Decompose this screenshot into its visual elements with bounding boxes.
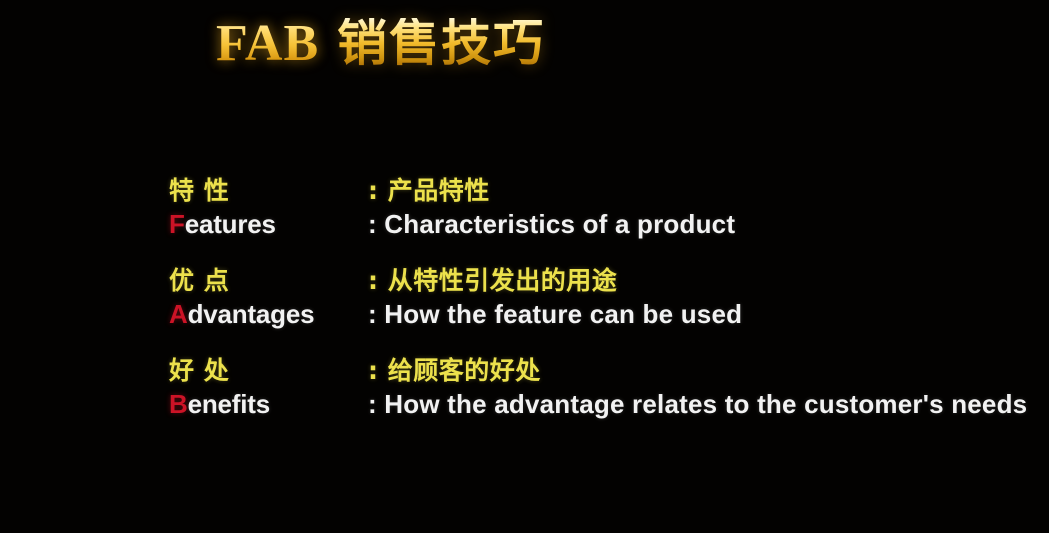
slide-title: FAB 销售技巧 [216,18,545,70]
advantages-term-rest: dvantages [188,299,315,329]
features-term-rest: eatures [185,209,276,239]
benefits-initial-letter: B [169,389,188,419]
benefits-term-rest: enefits [188,389,270,419]
advantages-cjk-description: : 从特性引发出的用途 [368,264,1029,297]
features-en-line: Features : Characteristics of a product [169,208,1029,240]
benefits-cjk-description: : 给顾客的好处 [368,354,1029,387]
advantages-en-description: : How the feature can be used [368,298,1029,330]
features-initial-letter: F [169,209,185,239]
features-cjk-description: : 产品特性 [368,174,1029,207]
title-latin-fab: FAB [216,18,319,70]
benefits-en-term: Benefits [169,388,368,420]
fab-group-features: 特 性 : 产品特性 Features : Characteristics of… [169,174,1029,240]
features-en-description: : Characteristics of a product [368,208,1029,240]
benefits-cjk-term: 好 处 [169,354,368,387]
advantages-cjk-term: 优 点 [169,264,368,297]
benefits-en-line: Benefits : How the advantage relates to … [169,388,1029,420]
fab-group-benefits: 好 处 : 给顾客的好处 Benefits : How the advantag… [169,354,1029,420]
advantages-cjk-line: 优 点 : 从特性引发出的用途 [169,264,1029,297]
fab-definition-list: 特 性 : 产品特性 Features : Characteristics of… [169,174,1029,420]
fab-group-advantages: 优 点 : 从特性引发出的用途 Advantages : How the fea… [169,264,1029,330]
advantages-en-term: Advantages [169,298,368,330]
features-cjk-term: 特 性 [169,174,368,207]
advantages-en-line: Advantages : How the feature can be used [169,298,1029,330]
features-en-term: Features [169,208,368,240]
slide-canvas: FAB 销售技巧 特 性 : 产品特性 Features : Character… [0,0,1049,533]
advantages-initial-letter: A [169,299,188,329]
title-cjk-text: 销售技巧 [337,18,545,68]
benefits-cjk-line: 好 处 : 给顾客的好处 [169,354,1029,387]
features-cjk-line: 特 性 : 产品特性 [169,174,1029,207]
benefits-en-description: : How the advantage relates to the custo… [368,388,1029,420]
